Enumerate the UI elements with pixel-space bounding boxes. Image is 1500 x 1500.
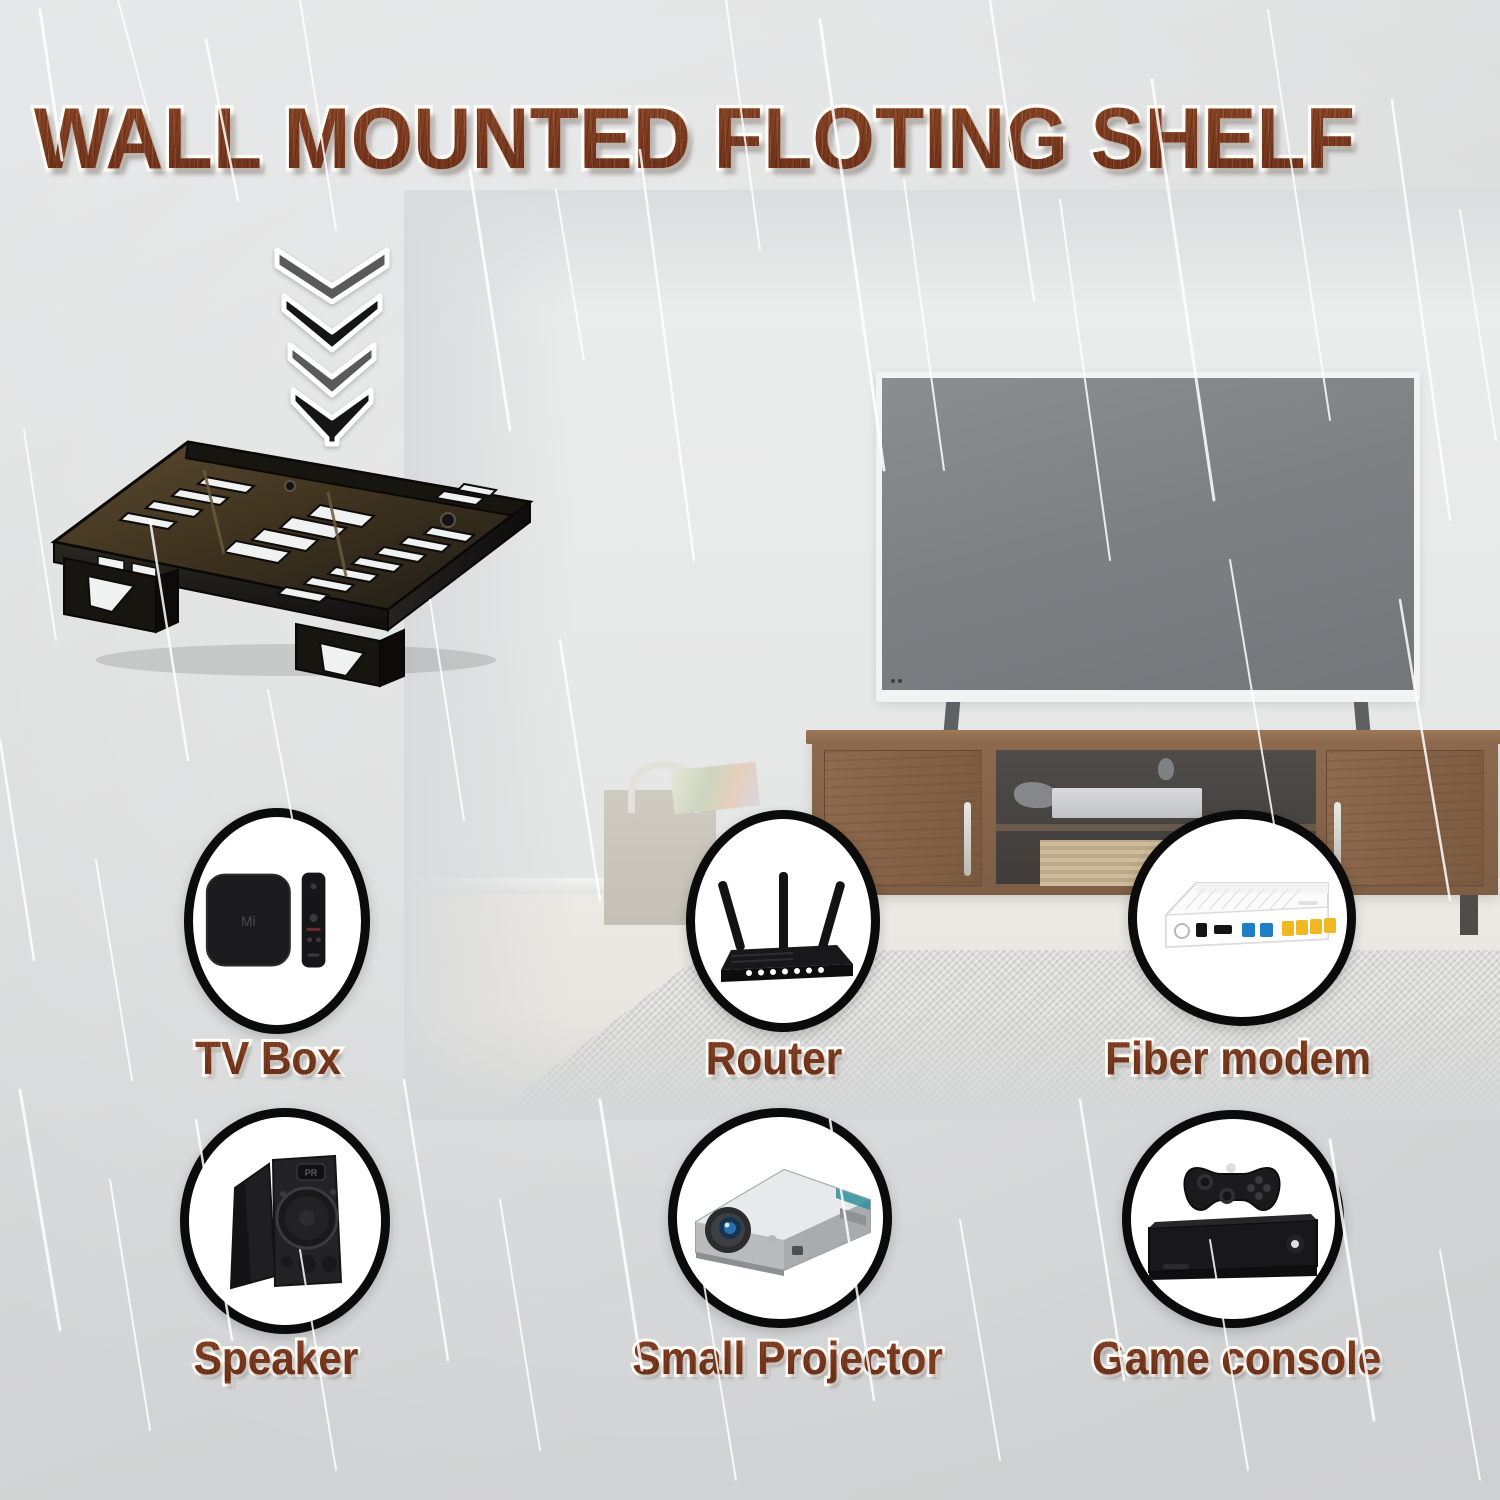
tv-box-icon: Mi — [193, 856, 361, 986]
feature-circle-small-projector[interactable] — [668, 1108, 892, 1328]
console-door-right — [1326, 750, 1484, 886]
feature-circle-tv-box[interactable]: Mi — [184, 808, 370, 1034]
floating-shelf-product — [28, 424, 548, 689]
feature-label-speaker-outline: Speaker — [166, 1335, 387, 1381]
svg-text:PR: PR — [305, 1168, 318, 1178]
speaker-icon: PR — [195, 1136, 375, 1306]
feature-circle-game-console[interactable] — [1122, 1110, 1344, 1328]
stacked-media-items — [1052, 788, 1202, 818]
tv-indicator-lights — [891, 679, 905, 684]
projector-icon — [680, 1148, 880, 1288]
svg-text:Mi: Mi — [241, 913, 256, 929]
feature-circle-router[interactable] — [686, 810, 880, 1032]
feature-circle-speaker[interactable]: PR — [180, 1108, 390, 1334]
feature-label-game-console-outline: Game console — [1092, 1335, 1368, 1381]
product-marketing-image: WALL MOUNTED FLOTING SHELF WALL MOUNTED … — [0, 0, 1500, 1500]
feature-label-tv-box-outline: TV Box — [158, 1035, 379, 1081]
tote-bag-contents — [670, 762, 760, 815]
shelf-knob-object — [1158, 758, 1174, 780]
game-console-icon — [1135, 1144, 1331, 1294]
feature-label-router-outline: Router — [664, 1035, 885, 1081]
feature-label-small-projector-outline: Small Projector — [632, 1335, 917, 1381]
fiber-modem-icon — [1142, 853, 1342, 983]
console-handle-left — [964, 802, 971, 876]
console-leg-right — [1460, 895, 1478, 935]
feature-label-fiber-modem-outline: Fiber modem — [1100, 1035, 1376, 1081]
tv-screen — [882, 378, 1414, 690]
tv-console-top — [806, 730, 1500, 744]
photo-fade-top — [404, 190, 1500, 310]
living-room-photo — [404, 190, 1500, 1120]
feature-circle-fiber-modem[interactable] — [1128, 810, 1356, 1026]
page-title-outline: WALL MOUNTED FLOTING SHELF — [34, 96, 1355, 182]
downward-arrows-group — [268, 246, 396, 446]
router-icon — [697, 846, 869, 996]
